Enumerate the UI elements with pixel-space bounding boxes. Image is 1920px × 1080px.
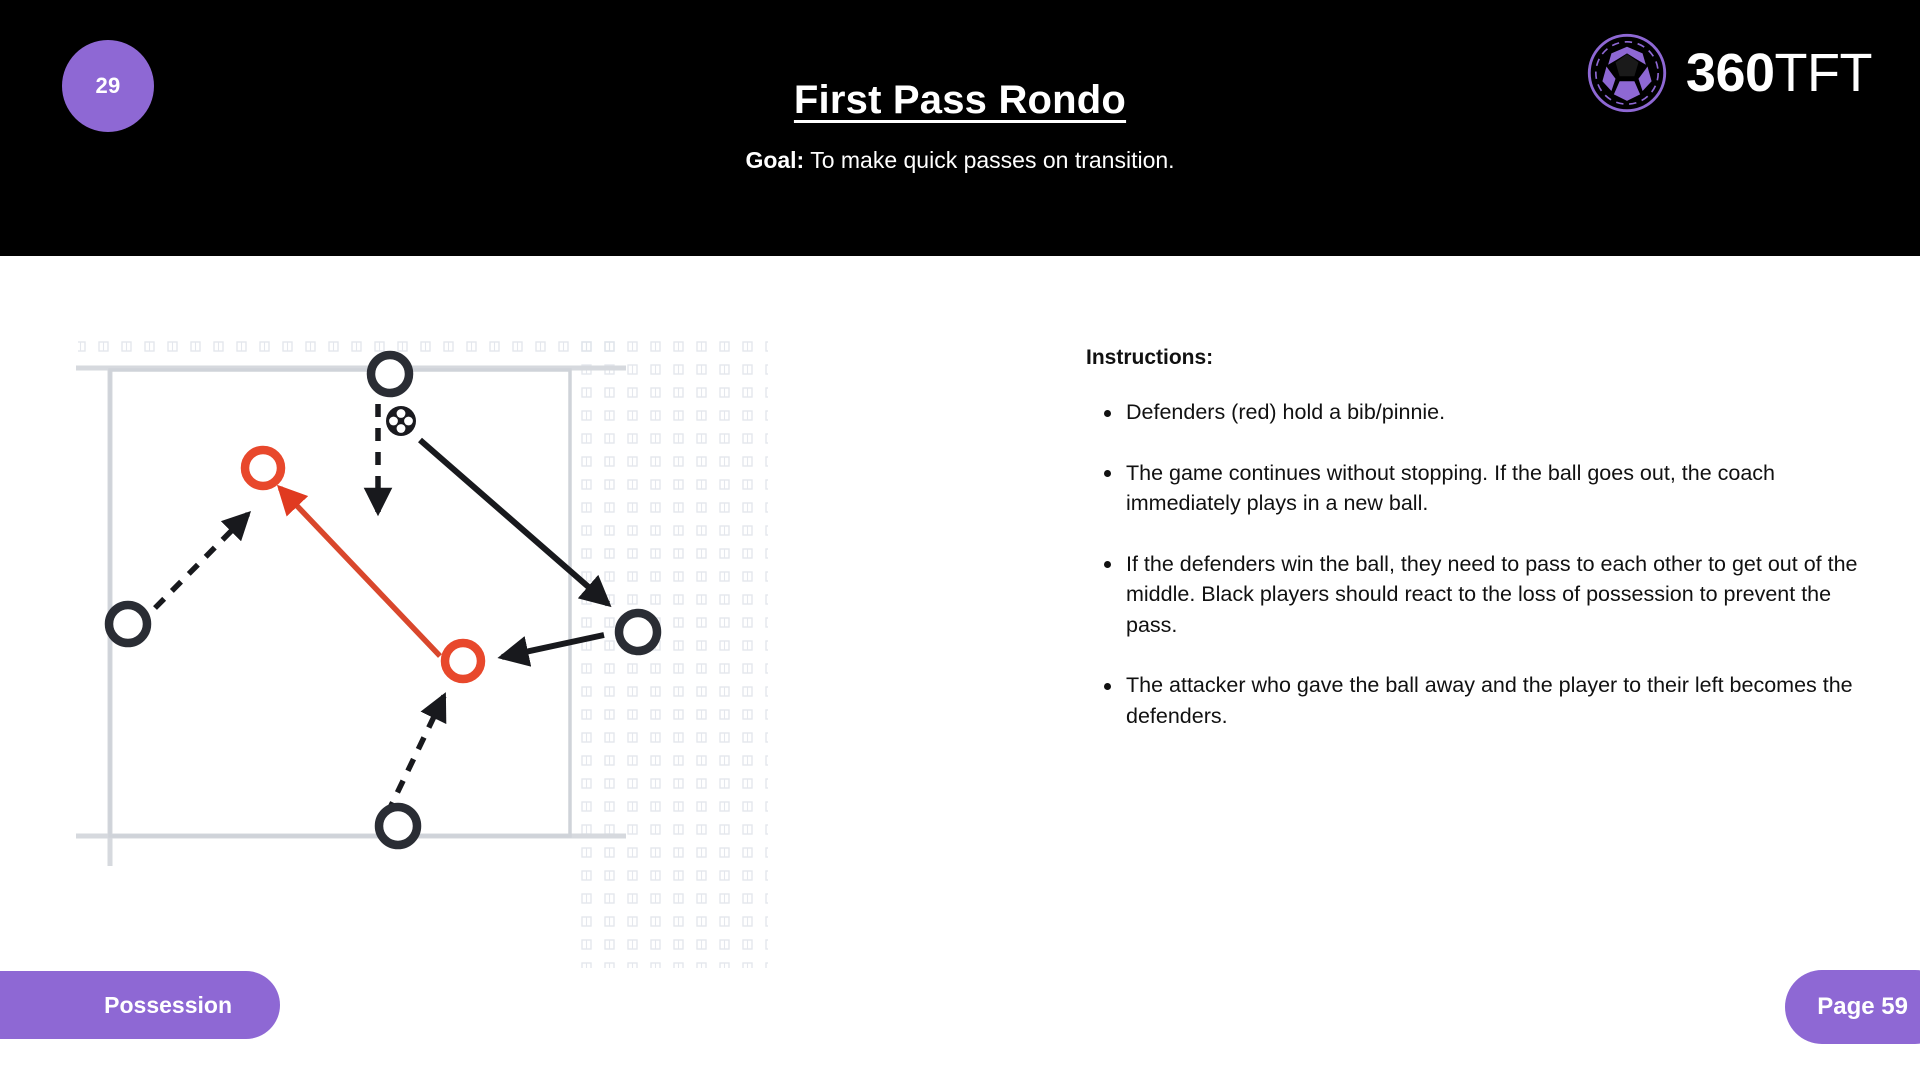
defender-upper-left xyxy=(245,450,281,486)
page-number-badge: Page 59 xyxy=(1785,970,1920,1044)
grid-texture-right xyxy=(578,340,768,968)
bullet-icon xyxy=(1104,561,1111,568)
attacker-bottom xyxy=(379,807,417,845)
press-arrows xyxy=(280,488,440,656)
rondo-tactics-diagram xyxy=(70,336,770,976)
goal-label: Goal: xyxy=(745,147,804,173)
page-title: First Pass Rondo xyxy=(794,78,1126,123)
run-arrows xyxy=(155,404,444,814)
category-badge-label: Possession xyxy=(104,992,232,1019)
defender-tokens xyxy=(245,450,481,679)
instructions-panel: Instructions: Defenders (red) hold a bib… xyxy=(1086,346,1886,761)
bullet-icon xyxy=(1104,410,1111,417)
slide-page: 29 First Pass Rondo Goal: To make quick … xyxy=(0,0,1920,1080)
page-number-label: Page 59 xyxy=(1817,993,1908,1021)
attacker-right xyxy=(619,613,657,651)
brand-wordmark: 360TFT xyxy=(1686,46,1872,100)
goal-text: To make quick passes on transition. xyxy=(810,147,1174,173)
soccer-ball-icon xyxy=(1586,32,1668,114)
list-item: If the defenders win the ball, they need… xyxy=(1086,549,1886,641)
list-item-text: If the defenders win the ball, they need… xyxy=(1126,552,1858,637)
bullet-icon xyxy=(1104,470,1111,477)
press-center-to-upper-left xyxy=(280,488,440,656)
slide-header: 29 First Pass Rondo Goal: To make quick … xyxy=(0,0,1920,256)
slide-body: Instructions: Defenders (red) hold a bib… xyxy=(0,256,1920,1080)
brand-logo: 360TFT xyxy=(1586,32,1872,114)
list-item-text: The attacker who gave the ball away and … xyxy=(1126,673,1853,728)
list-item-text: The game continues without stopping. If … xyxy=(1126,461,1775,516)
run-bottom-to-center xyxy=(387,696,444,814)
list-item: Defenders (red) hold a bib/pinnie. xyxy=(1086,397,1886,428)
brand-name-secondary: TFT xyxy=(1775,43,1872,103)
attacker-top xyxy=(371,355,409,393)
soccer-ball-marker xyxy=(386,406,416,436)
bullet-icon xyxy=(1104,683,1111,690)
list-item: The attacker who gave the ball away and … xyxy=(1086,670,1886,731)
instructions-heading: Instructions: xyxy=(1086,346,1886,370)
pitch-lines xyxy=(76,368,626,866)
goal-line: Goal: To make quick passes on transition… xyxy=(0,147,1920,174)
category-badge: Possession xyxy=(0,971,280,1039)
attacker-left xyxy=(109,605,147,643)
grid-texture-top xyxy=(78,340,626,364)
defender-center xyxy=(445,643,481,679)
list-item: The game continues without stopping. If … xyxy=(1086,458,1886,519)
list-item-text: Defenders (red) hold a bib/pinnie. xyxy=(1126,400,1445,424)
run-left-to-defender xyxy=(155,514,248,608)
brand-name-primary: 360 xyxy=(1686,43,1775,103)
